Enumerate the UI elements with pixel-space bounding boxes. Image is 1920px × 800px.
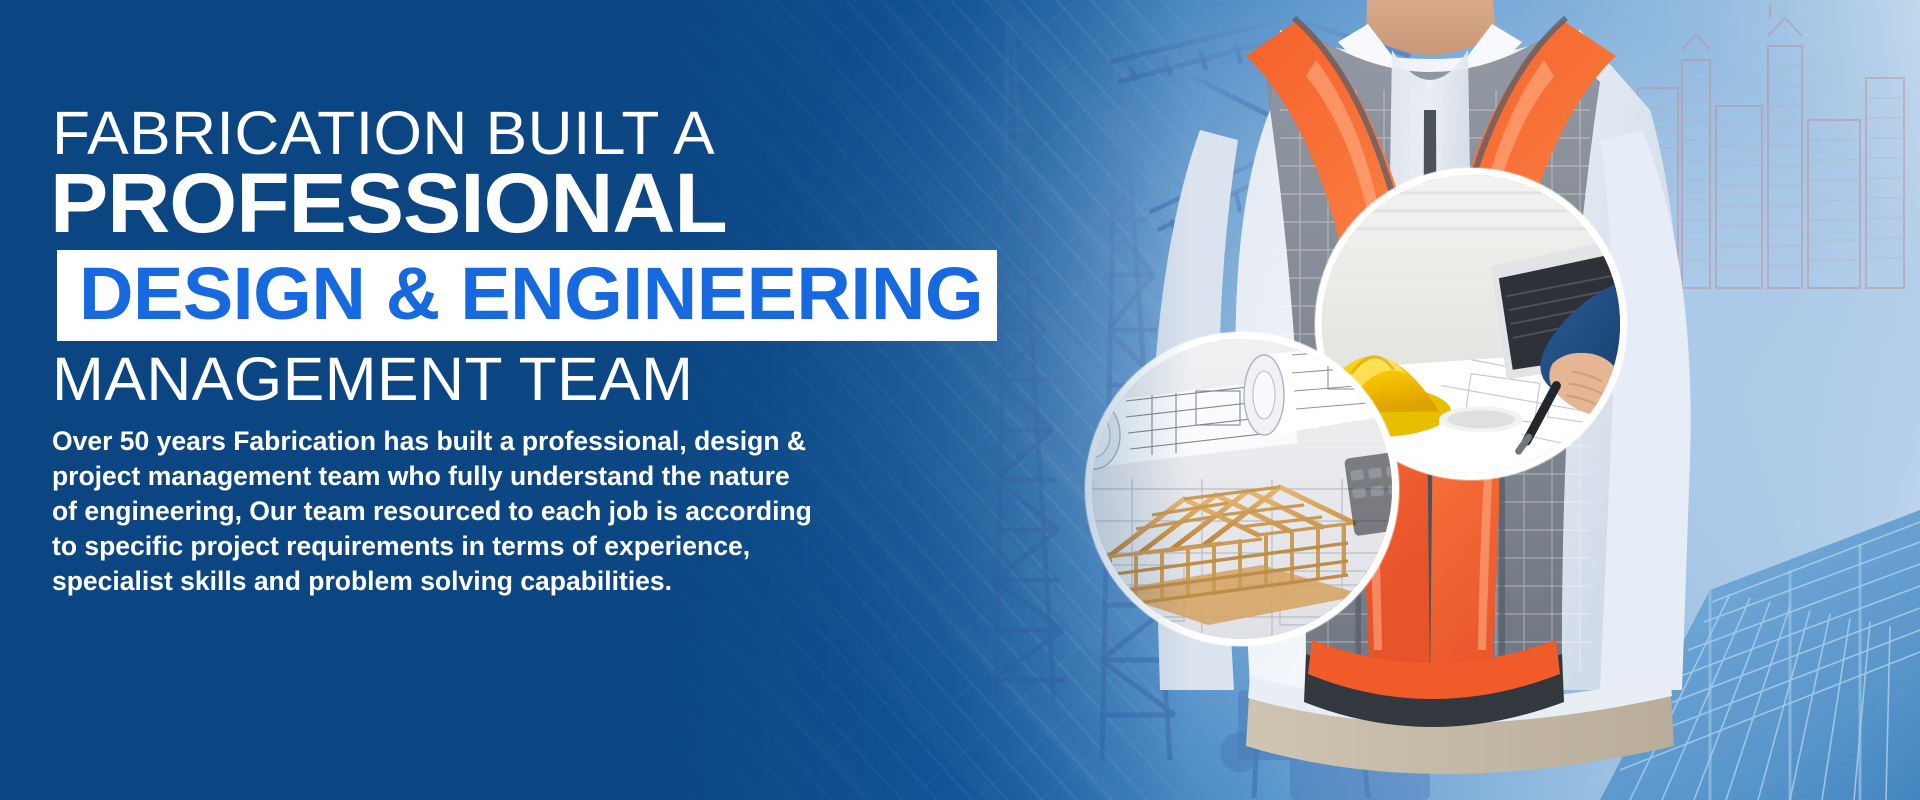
hero-body-copy: Over 50 years Fabrication has built a pr… xyxy=(52,424,982,600)
body-line: of engineering, Our team resourced to ea… xyxy=(52,494,982,529)
body-line: specialist skills and problem solving ca… xyxy=(52,564,982,599)
hero-headline-sub: MANAGEMENT TEAM xyxy=(52,349,1060,410)
hero-eyebrow: FABRICATION BUILT A xyxy=(52,104,1060,163)
hero-headline-highlight: DESIGN & ENGINEERING xyxy=(79,260,1015,328)
hero-copy: FABRICATION BUILT A PROFESSIONAL DESIGN … xyxy=(50,104,1040,600)
body-line: Over 50 years Fabrication has built a pr… xyxy=(52,424,982,459)
hero-headline-highlight-box: DESIGN & ENGINEERING xyxy=(57,250,997,340)
hero-headline-main: PROFESSIONAL xyxy=(50,167,1080,241)
body-line: to specific project requirements in term… xyxy=(52,529,982,564)
body-line: project management team who fully unders… xyxy=(52,459,982,494)
hero-banner: FABRICATION BUILT A PROFESSIONAL DESIGN … xyxy=(0,0,1920,800)
